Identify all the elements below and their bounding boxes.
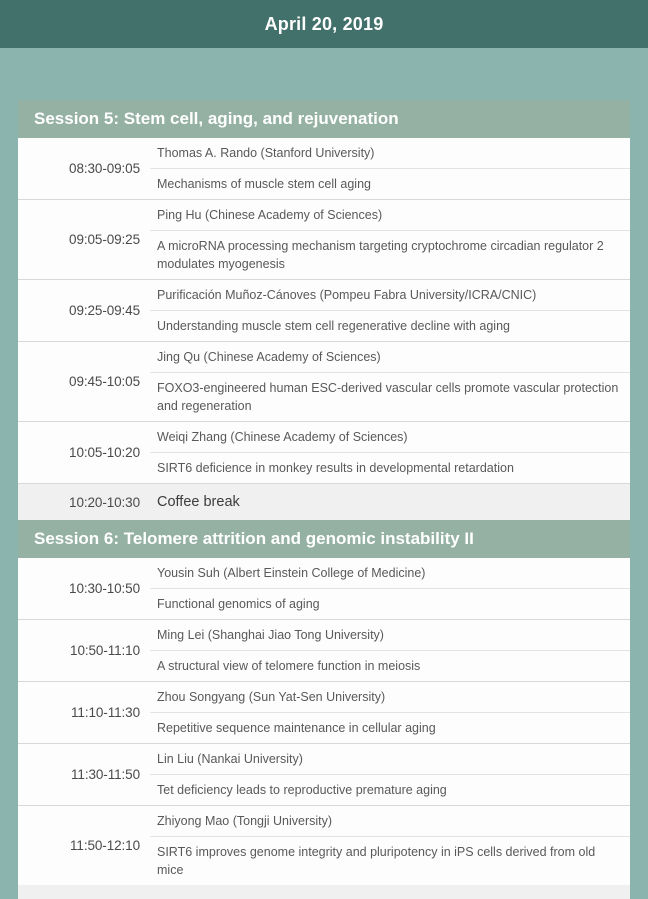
session-header: Session 6: Telomere attrition and genomi… bbox=[18, 520, 630, 558]
talk-row: 08:30-09:05Thomas A. Rando (Stanford Uni… bbox=[18, 138, 630, 199]
session-table: 10:30-10:50Yousin Suh (Albert Einstein C… bbox=[18, 558, 630, 885]
talk-speaker: Zhiyong Mao (Tongji University) bbox=[150, 806, 630, 837]
session-block: Session 5: Stem cell, aging, and rejuven… bbox=[18, 100, 630, 520]
talk-row: 11:30-11:50Lin Liu (Nankai University)Te… bbox=[18, 743, 630, 805]
talk-detail: Ping Hu (Chinese Academy of Sciences)A m… bbox=[150, 200, 630, 279]
talk-detail: Zhou Songyang (Sun Yat-Sen University)Re… bbox=[150, 682, 630, 743]
talk-title: SIRT6 improves genome integrity and plur… bbox=[150, 837, 630, 885]
talk-time: 11:30-11:50 bbox=[18, 744, 150, 805]
talk-time: 09:05-09:25 bbox=[18, 200, 150, 279]
talk-time: 08:30-09:05 bbox=[18, 138, 150, 199]
break-time: 10:20-10:30 bbox=[18, 495, 150, 510]
sessions-root: Session 5: Stem cell, aging, and rejuven… bbox=[18, 100, 630, 899]
talk-row: 10:50-11:10Ming Lei (Shanghai Jiao Tong … bbox=[18, 619, 630, 681]
talk-detail: Yousin Suh (Albert Einstein College of M… bbox=[150, 558, 630, 619]
talk-row: 10:30-10:50Yousin Suh (Albert Einstein C… bbox=[18, 558, 630, 619]
talk-row: 09:05-09:25Ping Hu (Chinese Academy of S… bbox=[18, 199, 630, 279]
talk-detail: Thomas A. Rando (Stanford University)Mec… bbox=[150, 138, 630, 199]
talk-detail: Lin Liu (Nankai University)Tet deficienc… bbox=[150, 744, 630, 805]
talk-row: 09:25-09:45Purificación Muñoz-Cánoves (P… bbox=[18, 279, 630, 341]
session-block: Session 6: Telomere attrition and genomi… bbox=[18, 520, 630, 885]
break-row: 10:20-10:30Coffee break bbox=[18, 483, 630, 520]
talk-detail: Ming Lei (Shanghai Jiao Tong University)… bbox=[150, 620, 630, 681]
session-table: 08:30-09:05Thomas A. Rando (Stanford Uni… bbox=[18, 138, 630, 520]
talk-row: 10:05-10:20Weiqi Zhang (Chinese Academy … bbox=[18, 421, 630, 483]
page-title: April 20, 2019 bbox=[265, 14, 384, 35]
talk-row: 11:10-11:30Zhou Songyang (Sun Yat-Sen Un… bbox=[18, 681, 630, 743]
talk-speaker: Yousin Suh (Albert Einstein College of M… bbox=[150, 558, 630, 589]
header-spacer bbox=[0, 48, 648, 100]
talk-time: 11:10-11:30 bbox=[18, 682, 150, 743]
talk-detail: Zhiyong Mao (Tongji University)SIRT6 imp… bbox=[150, 806, 630, 885]
talk-speaker: Lin Liu (Nankai University) bbox=[150, 744, 630, 775]
talk-time: 10:50-11:10 bbox=[18, 620, 150, 681]
talk-row: 11:50-12:10Zhiyong Mao (Tongji Universit… bbox=[18, 805, 630, 885]
talk-speaker: Purificación Muñoz-Cánoves (Pompeu Fabra… bbox=[150, 280, 630, 311]
bottom-strip bbox=[18, 885, 630, 899]
break-label: Coffee break bbox=[150, 494, 630, 510]
talk-title: Tet deficiency leads to reproductive pre… bbox=[150, 775, 630, 805]
talk-speaker: Ming Lei (Shanghai Jiao Tong University) bbox=[150, 620, 630, 651]
talk-time: 10:30-10:50 bbox=[18, 558, 150, 619]
talk-title: Functional genomics of aging bbox=[150, 589, 630, 619]
talk-detail: Purificación Muñoz-Cánoves (Pompeu Fabra… bbox=[150, 280, 630, 341]
schedule-container: Session 5: Stem cell, aging, and rejuven… bbox=[0, 100, 648, 899]
talk-time: 10:05-10:20 bbox=[18, 422, 150, 483]
talk-detail: Jing Qu (Chinese Academy of Sciences)FOX… bbox=[150, 342, 630, 421]
talk-title: A structural view of telomere function i… bbox=[150, 651, 630, 681]
talk-title: Repetitive sequence maintenance in cellu… bbox=[150, 713, 630, 743]
talk-time: 09:25-09:45 bbox=[18, 280, 150, 341]
talk-title: Mechanisms of muscle stem cell aging bbox=[150, 169, 630, 199]
talk-time: 09:45-10:05 bbox=[18, 342, 150, 421]
talk-speaker: Jing Qu (Chinese Academy of Sciences) bbox=[150, 342, 630, 373]
talk-speaker: Zhou Songyang (Sun Yat-Sen University) bbox=[150, 682, 630, 713]
talk-title: Understanding muscle stem cell regenerat… bbox=[150, 311, 630, 341]
talk-speaker: Weiqi Zhang (Chinese Academy of Sciences… bbox=[150, 422, 630, 453]
session-header: Session 5: Stem cell, aging, and rejuven… bbox=[18, 100, 630, 138]
talk-time: 11:50-12:10 bbox=[18, 806, 150, 885]
talk-title: SIRT6 deficience in monkey results in de… bbox=[150, 453, 630, 483]
talk-detail: Weiqi Zhang (Chinese Academy of Sciences… bbox=[150, 422, 630, 483]
date-header-bar: April 20, 2019 bbox=[0, 0, 648, 48]
talk-title: FOXO3-engineered human ESC-derived vascu… bbox=[150, 373, 630, 421]
talk-speaker: Thomas A. Rando (Stanford University) bbox=[150, 138, 630, 169]
talk-title: A microRNA processing mechanism targetin… bbox=[150, 231, 630, 279]
talk-row: 09:45-10:05Jing Qu (Chinese Academy of S… bbox=[18, 341, 630, 421]
talk-speaker: Ping Hu (Chinese Academy of Sciences) bbox=[150, 200, 630, 231]
